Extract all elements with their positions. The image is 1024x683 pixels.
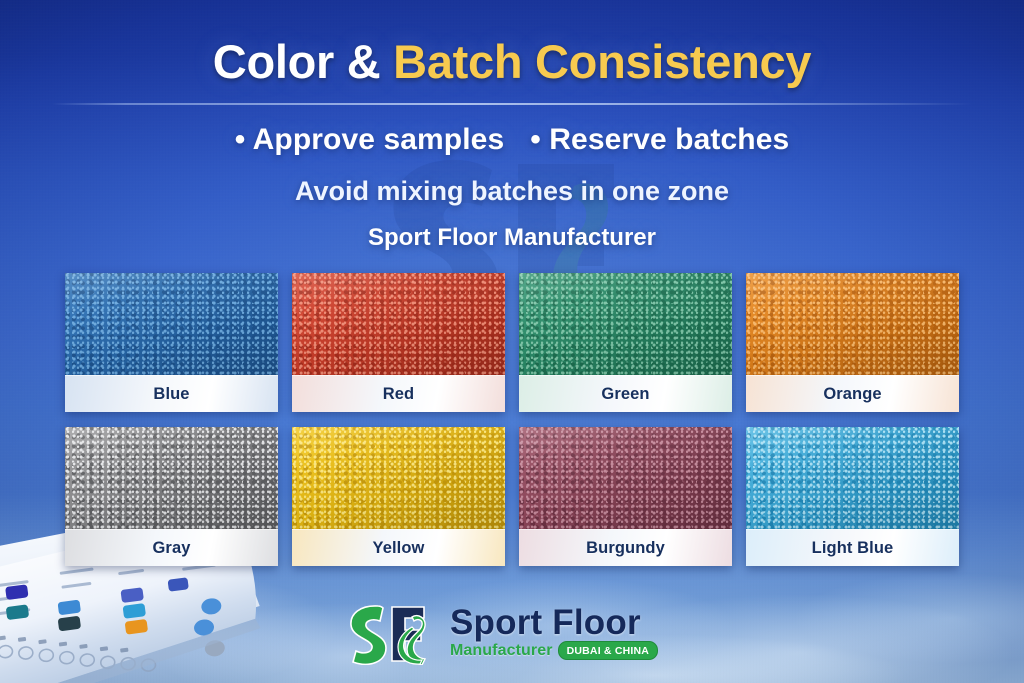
granule-texture <box>519 273 732 375</box>
logo-region-badge: DUBAI & CHINA <box>558 641 659 660</box>
color-swatch-label: Red <box>292 375 505 412</box>
granule-texture <box>746 427 959 529</box>
logo-subtitle-row: Manufacturer DUBAI & CHINA <box>450 641 658 660</box>
poster-header: Color & Batch Consistency <box>0 0 1024 88</box>
granule-texture <box>292 273 505 375</box>
color-swatch-card[interactable]: Yellow <box>292 427 505 566</box>
color-swatch-label: Blue <box>65 375 278 412</box>
granule-texture <box>519 427 732 529</box>
color-swatch-label: Green <box>519 375 732 412</box>
title-part-accent: Batch Consistency <box>393 35 811 88</box>
logo-text-block: Sport Floor Manufacturer DUBAI & CHINA <box>450 606 658 660</box>
sf-monogram-icon <box>344 601 448 665</box>
granule-texture <box>65 427 278 529</box>
bullet-item-approve-samples: • Approve samples <box>235 123 505 156</box>
color-swatch-label: Gray <box>65 529 278 566</box>
granule-texture <box>292 427 505 529</box>
color-swatch-card[interactable]: Blue <box>65 273 278 412</box>
bullet-item-reserve-batches: • Reserve batches <box>530 123 789 156</box>
color-swatch-grid: BlueRedGreenOrangeGrayYellowBurgundyLigh… <box>65 273 959 566</box>
granule-texture <box>65 273 278 375</box>
bullet-line: • Approve samples• Reserve batches <box>0 123 1024 157</box>
logo-title: Sport Floor <box>450 606 658 640</box>
subtitle-brand-line: Sport Floor Manufacturer <box>0 224 1024 252</box>
color-swatch-card[interactable]: Light Blue <box>746 427 959 566</box>
color-swatch-card[interactable]: Burgundy <box>519 427 732 566</box>
subtitle-avoid-mixing: Avoid mixing batches in one zone <box>0 176 1024 207</box>
header-divider <box>52 103 972 105</box>
page-title: Color & Batch Consistency <box>0 37 1024 88</box>
color-swatch-card[interactable]: Orange <box>746 273 959 412</box>
logo-subtitle: Manufacturer <box>450 642 553 660</box>
poster-canvas: Color & Batch Consistency • Approve samp… <box>0 0 1024 683</box>
color-swatch-card[interactable]: Gray <box>65 427 278 566</box>
granule-texture <box>746 273 959 375</box>
color-swatch-label: Burgundy <box>519 529 732 566</box>
color-swatch-label: Light Blue <box>746 529 959 566</box>
brand-logo[interactable]: Sport Floor Manufacturer DUBAI & CHINA <box>344 598 680 668</box>
color-swatch-label: Yellow <box>292 529 505 566</box>
color-swatch-label: Orange <box>746 375 959 412</box>
color-swatch-card[interactable]: Green <box>519 273 732 412</box>
title-part-primary: Color & <box>213 35 393 88</box>
color-swatch-card[interactable]: Red <box>292 273 505 412</box>
